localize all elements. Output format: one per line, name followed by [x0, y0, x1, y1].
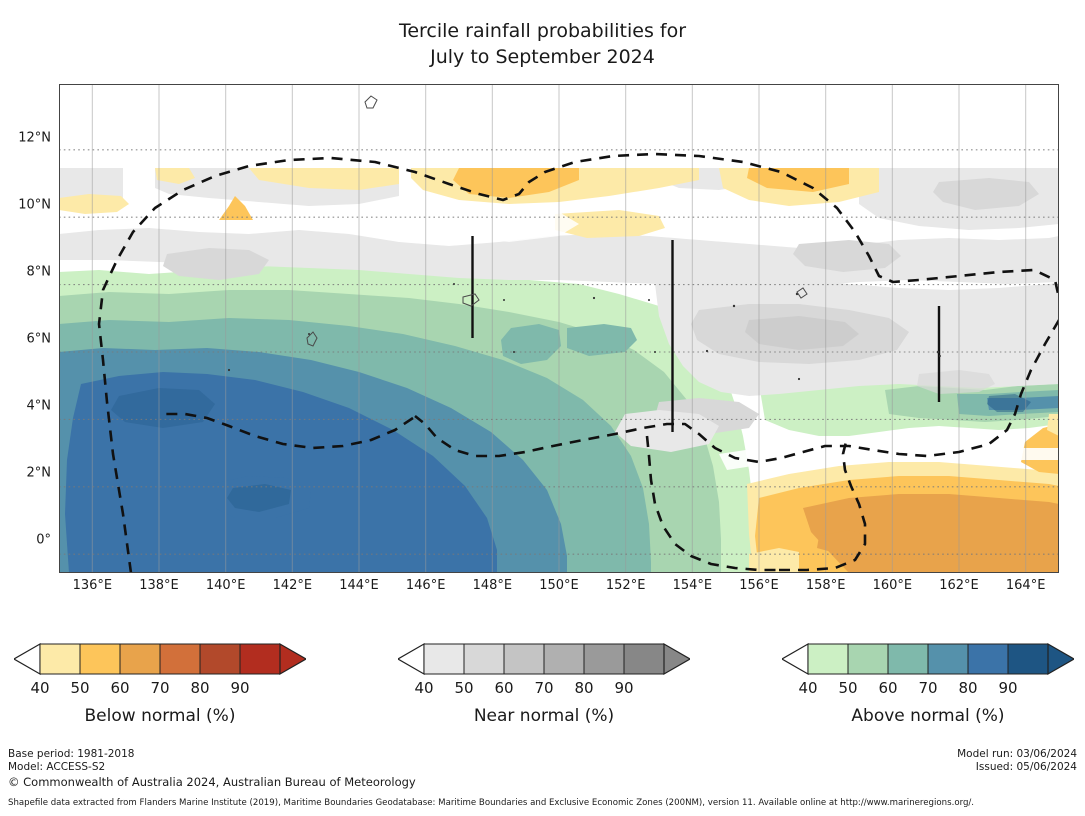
colorbar-swatch [808, 644, 848, 674]
colorbar-near-normal-ticks: 405060708090 [398, 679, 690, 699]
tercile-probability-contour-map [59, 84, 1059, 573]
colorbar-tick-label: 40 [414, 679, 433, 697]
colorbar-near-normal[interactable]: 405060708090 Near normal (%) [398, 640, 690, 686]
colorbar-tick-label: 40 [30, 679, 49, 697]
colorbar-swatch [120, 644, 160, 674]
colorbar-below-normal-ticks: 405060708090 [14, 679, 306, 699]
colorbar-tick-label: 70 [534, 679, 553, 697]
issued-text: Issued: 05/06/2024 [957, 761, 1077, 774]
y-tick-label: 8°N [27, 264, 52, 279]
colorbar-swatches [398, 640, 690, 678]
colorbar-tick-label: 90 [230, 679, 249, 697]
colorbar-swatch [424, 644, 464, 674]
colorbar-tick-label: 60 [110, 679, 129, 697]
colorbar-below-normal[interactable]: 405060708090 Below normal (%) [14, 640, 306, 686]
colorbar-swatch [80, 644, 120, 674]
colorbar-tick-label: 80 [190, 679, 209, 697]
colorbar-tick-label: 50 [838, 679, 857, 697]
colorbar-swatch [624, 644, 664, 674]
colorbar-tick-label: 60 [878, 679, 897, 697]
x-tick-label: 142°E [273, 578, 313, 593]
colorbar-tick-label: 50 [454, 679, 473, 697]
y-tick-label: 0° [36, 532, 51, 547]
x-tick-label: 150°E [539, 578, 579, 593]
colorbar-below-normal-label: Below normal (%) [14, 706, 306, 726]
colorbar-tick-label: 90 [614, 679, 633, 697]
colorbar-swatches [14, 640, 306, 678]
colorbar-below-normal-gradient [14, 640, 306, 678]
colorbar-swatch [888, 644, 928, 674]
x-tick-label: 144°E [339, 578, 379, 593]
colorbar-tick-label: 80 [574, 679, 593, 697]
colorbar-tick-label: 90 [998, 679, 1017, 697]
colorbar-swatch [240, 644, 280, 674]
colorbar-swatch [848, 644, 888, 674]
map-panel[interactable] [59, 84, 1059, 573]
colorbar-near-normal-label: Near normal (%) [398, 706, 690, 726]
colorbar-swatch [968, 644, 1008, 674]
x-tick-label: 140°E [206, 578, 246, 593]
colorbar-swatch [40, 644, 80, 674]
colorbar-above-normal-ticks: 405060708090 [782, 679, 1074, 699]
colorbar-swatch [544, 644, 584, 674]
colorbar-tick-label: 70 [918, 679, 937, 697]
title-line-2: July to September 2024 [0, 44, 1085, 70]
y-tick-label: 10°N [18, 197, 51, 212]
copyright-text: © Commonwealth of Australia 2024, Austra… [8, 774, 416, 790]
map-canvas [59, 84, 1059, 573]
shapefile-attribution: Shapefile data extracted from Flanders M… [8, 798, 974, 808]
x-tick-label: 136°E [73, 578, 113, 593]
x-tick-label: 146°E [406, 578, 446, 593]
x-tick-label: 164°E [1006, 578, 1046, 593]
x-tick-label: 148°E [473, 578, 513, 593]
colorbar-near-normal-gradient [398, 640, 690, 678]
colorbar-tick-label: 40 [798, 679, 817, 697]
x-tick-label: 160°E [873, 578, 913, 593]
colorbar-tick-label: 60 [494, 679, 513, 697]
y-tick-label: 12°N [18, 130, 51, 145]
model-text: Model: ACCESS-S2 [8, 761, 416, 774]
colorbar-swatch [504, 644, 544, 674]
x-tick-label: 162°E [939, 578, 979, 593]
x-tick-label: 138°E [139, 578, 179, 593]
y-tick-label: 6°N [27, 331, 52, 346]
colorbar-above-normal-gradient [782, 640, 1074, 678]
x-tick-label: 158°E [806, 578, 846, 593]
x-tick-label: 154°E [673, 578, 713, 593]
colorbar-swatch [1008, 644, 1048, 674]
colorbar-above-normal-label: Above normal (%) [782, 706, 1074, 726]
colorbar-above-normal[interactable]: 405060708090 Above normal (%) [782, 640, 1074, 686]
colorbar-swatch [464, 644, 504, 674]
colorbar-tick-label: 70 [150, 679, 169, 697]
title-line-1: Tercile rainfall probabilities for [0, 18, 1085, 44]
colorbar-tick-label: 80 [958, 679, 977, 697]
y-tick-label: 2°N [27, 465, 52, 480]
colorbar-swatch [200, 644, 240, 674]
colorbar-tick-label: 50 [70, 679, 89, 697]
colorbar-swatch [160, 644, 200, 674]
footer-left: Base period: 1981-2018 Model: ACCESS-S2 … [8, 748, 416, 790]
colorbar-swatch [928, 644, 968, 674]
x-tick-label: 152°E [606, 578, 646, 593]
page-title: Tercile rainfall probabilities for July … [0, 18, 1085, 70]
footer-right: Model run: 03/06/2024 Issued: 05/06/2024 [957, 748, 1077, 774]
base-period-text: Base period: 1981-2018 [8, 748, 416, 761]
colorbar-swatch [584, 644, 624, 674]
colorbar-swatches [782, 640, 1074, 678]
x-tick-label: 156°E [739, 578, 779, 593]
model-run-text: Model run: 03/06/2024 [957, 748, 1077, 761]
y-tick-label: 4°N [27, 398, 52, 413]
